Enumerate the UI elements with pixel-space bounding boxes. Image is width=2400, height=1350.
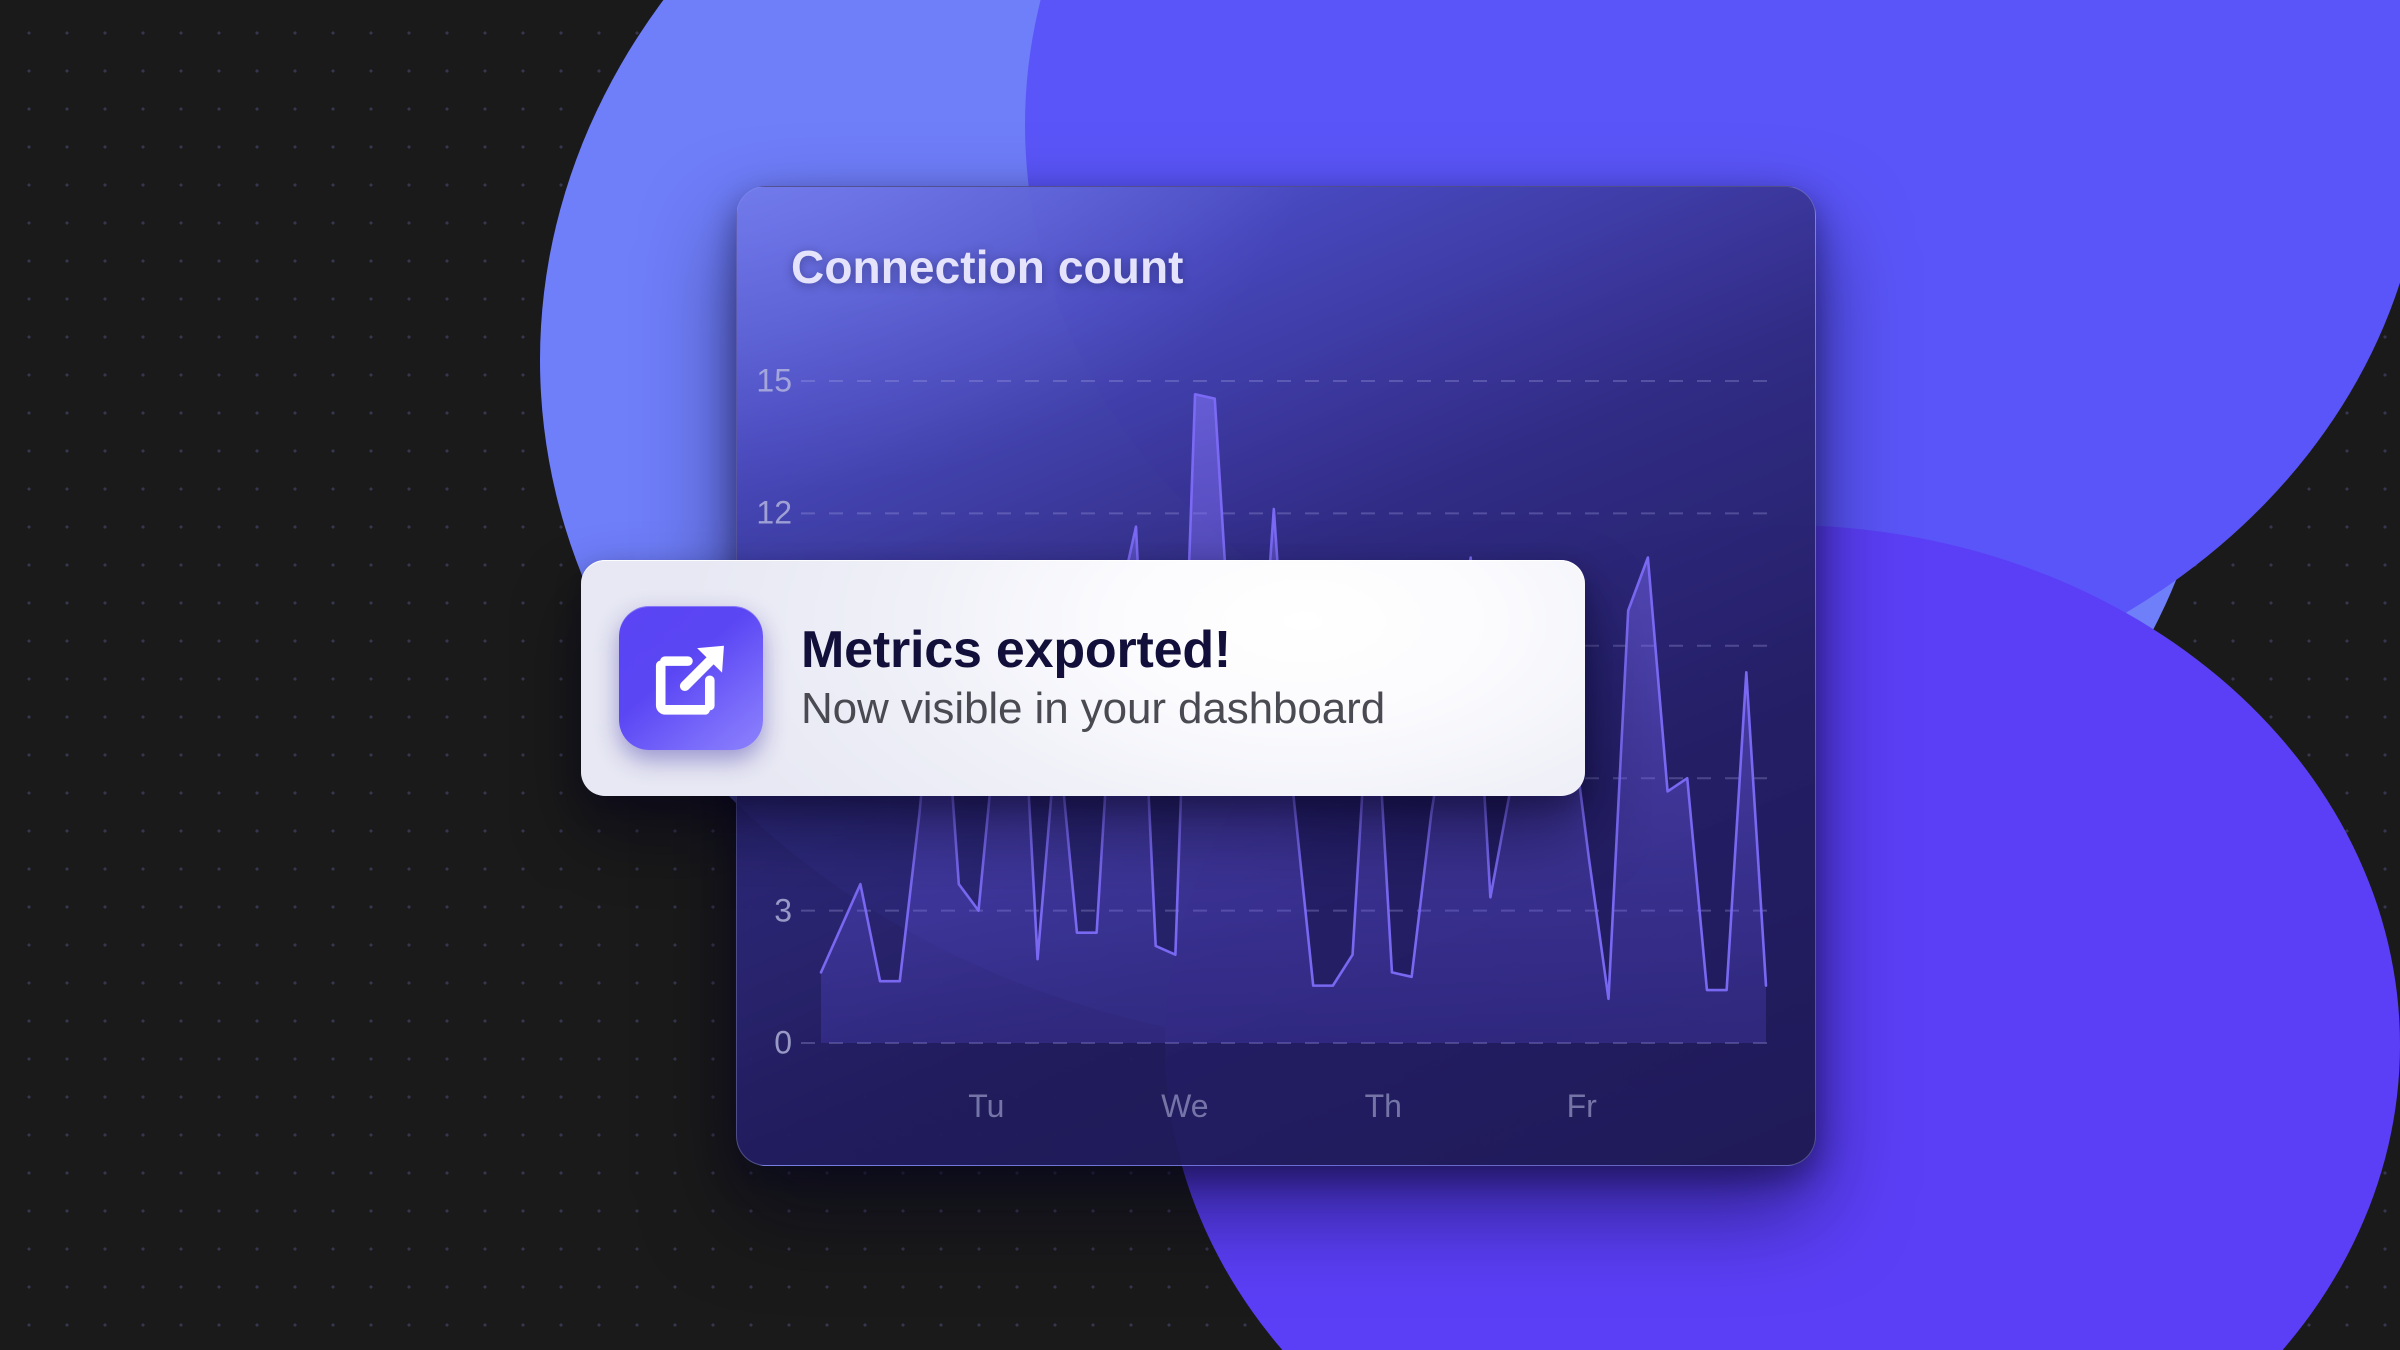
toast-subtitle: Now visible in your dashboard [801,684,1385,733]
toast-notification[interactable]: Metrics exported! Now visible in your da… [581,560,1585,796]
chart-y-tick-label: 0 [736,1025,792,1062]
toast-title: Metrics exported! [801,622,1385,678]
toast-text-block: Metrics exported! Now visible in your da… [801,622,1385,733]
chart-x-tick-label: Tu [968,1088,1004,1125]
chart-y-tick-label: 3 [736,892,792,929]
external-link-export-icon [619,606,763,750]
chart-y-tick-label: 15 [736,363,792,400]
chart-x-tick-label: Fr [1567,1088,1597,1125]
chart-y-tick-label: 12 [736,495,792,532]
chart-x-tick-label: Th [1365,1088,1402,1125]
screenshot-stage: Connection count 031215 TuWeThFr [0,0,2400,1350]
page-title: Connection count [791,240,1184,294]
chart-x-tick-label: We [1161,1088,1208,1125]
